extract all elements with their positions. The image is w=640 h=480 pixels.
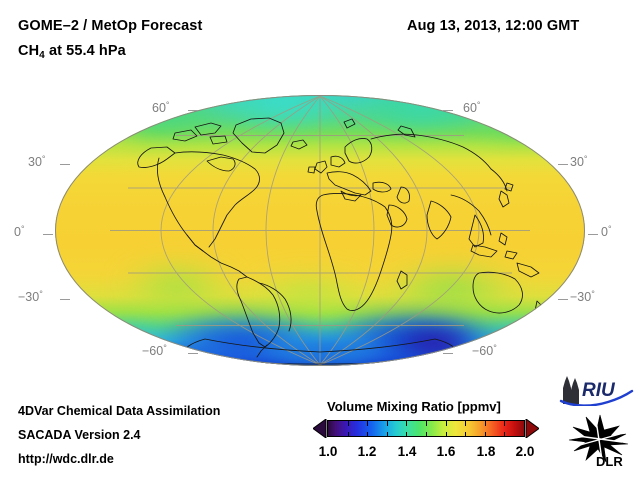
colorbar-major-tick-2: [406, 421, 407, 426]
lat-tick-left-minus30: [60, 299, 70, 300]
lat-label-right-30: 30°: [570, 154, 588, 169]
lat-label-left-minus60: −60°: [142, 343, 167, 358]
colorbar-minor-tick-3: [426, 421, 427, 426]
colorbar-major-tick-4: [485, 421, 486, 426]
colorbar-major-tick-b1: [367, 432, 368, 437]
lat-tick-left-60: [188, 110, 198, 111]
species-name: CH: [18, 43, 39, 59]
version-label: SACADA Version 2.4: [18, 428, 141, 442]
colorbar-minor-tick-4: [465, 421, 466, 426]
dlr-logo-text: DLR: [596, 454, 623, 468]
species-level-label: CH4 at 55.4 hPa: [18, 43, 126, 61]
dlr-logo: DLR: [566, 414, 634, 468]
colorbar-gradient: [327, 420, 525, 437]
colorbar-ticklabel-2.0: 2.0: [516, 444, 535, 459]
lat-tick-right-0: [588, 234, 598, 235]
colorbar-minor-tick-1: [348, 421, 349, 426]
colorbar-ticklabel-1.2: 1.2: [358, 444, 377, 459]
lat-tick-left-30: [60, 164, 70, 165]
colorbar-extend-right-arrow: [525, 419, 539, 438]
colorbar-minor-tick-b5: [504, 432, 505, 437]
lat-tick-right-minus60: [443, 353, 453, 354]
lat-tick-right-60: [443, 110, 453, 111]
colorbar-ticklabel-1.4: 1.4: [398, 444, 417, 459]
lat-label-left-minus30: −30°: [18, 289, 43, 304]
colorbar-ticklabel-1.0: 1.0: [319, 444, 338, 459]
colorbar-minor-tick-b3: [426, 432, 427, 437]
riu-logo: RIU: [558, 374, 634, 406]
figure-canvas: GOME–2 / MetOp Forecast CH4 at 55.4 hPa …: [0, 0, 640, 480]
lat-label-left-60: 60°: [152, 100, 170, 115]
colorbar-minor-tick-5: [504, 421, 505, 426]
colorbar-minor-tick-b2: [387, 432, 388, 437]
website-link[interactable]: http://wdc.dlr.de: [18, 452, 114, 466]
pressure-level: at 55.4 hPa: [45, 43, 126, 59]
map-plot-area: [55, 95, 585, 366]
lat-tick-left-0: [43, 234, 53, 235]
colorbar-title: Volume Mixing Ratio [ppmv]: [327, 399, 501, 414]
colorbar-major-tick-1: [367, 421, 368, 426]
lat-tick-right-minus30: [558, 299, 568, 300]
lat-tick-right-30: [558, 164, 568, 165]
lat-label-right-60: 60°: [463, 100, 481, 115]
colorbar[interactable]: [313, 419, 539, 438]
lat-label-right-minus60: −60°: [472, 343, 497, 358]
colorbar-extend-left-arrow: [313, 419, 327, 438]
coastlines: [55, 95, 585, 366]
colorbar-major-tick-b2: [406, 432, 407, 437]
colorbar-minor-tick-b1: [348, 432, 349, 437]
lat-label-right-0: 0°: [601, 224, 612, 239]
colorbar-major-tick-b3: [446, 432, 447, 437]
lat-label-right-minus30: −30°: [570, 289, 595, 304]
lat-label-left-0: 0°: [14, 224, 25, 239]
method-label: 4DVar Chemical Data Assimilation: [18, 404, 220, 418]
colorbar-ticklabel-1.6: 1.6: [437, 444, 456, 459]
colorbar-major-tick-3: [446, 421, 447, 426]
lat-label-left-30: 30°: [28, 154, 46, 169]
timestamp-label: Aug 13, 2013, 12:00 GMT: [407, 18, 579, 34]
colorbar-minor-tick-2: [387, 421, 388, 426]
globe-field-clip: [55, 95, 585, 366]
riu-logo-text: RIU: [582, 380, 616, 401]
colorbar-minor-tick-b4: [465, 432, 466, 437]
colorbar-major-tick-b4: [485, 432, 486, 437]
page-title: GOME–2 / MetOp Forecast: [18, 18, 202, 34]
lat-tick-left-minus60: [188, 353, 198, 354]
colorbar-ticklabel-1.8: 1.8: [477, 444, 496, 459]
